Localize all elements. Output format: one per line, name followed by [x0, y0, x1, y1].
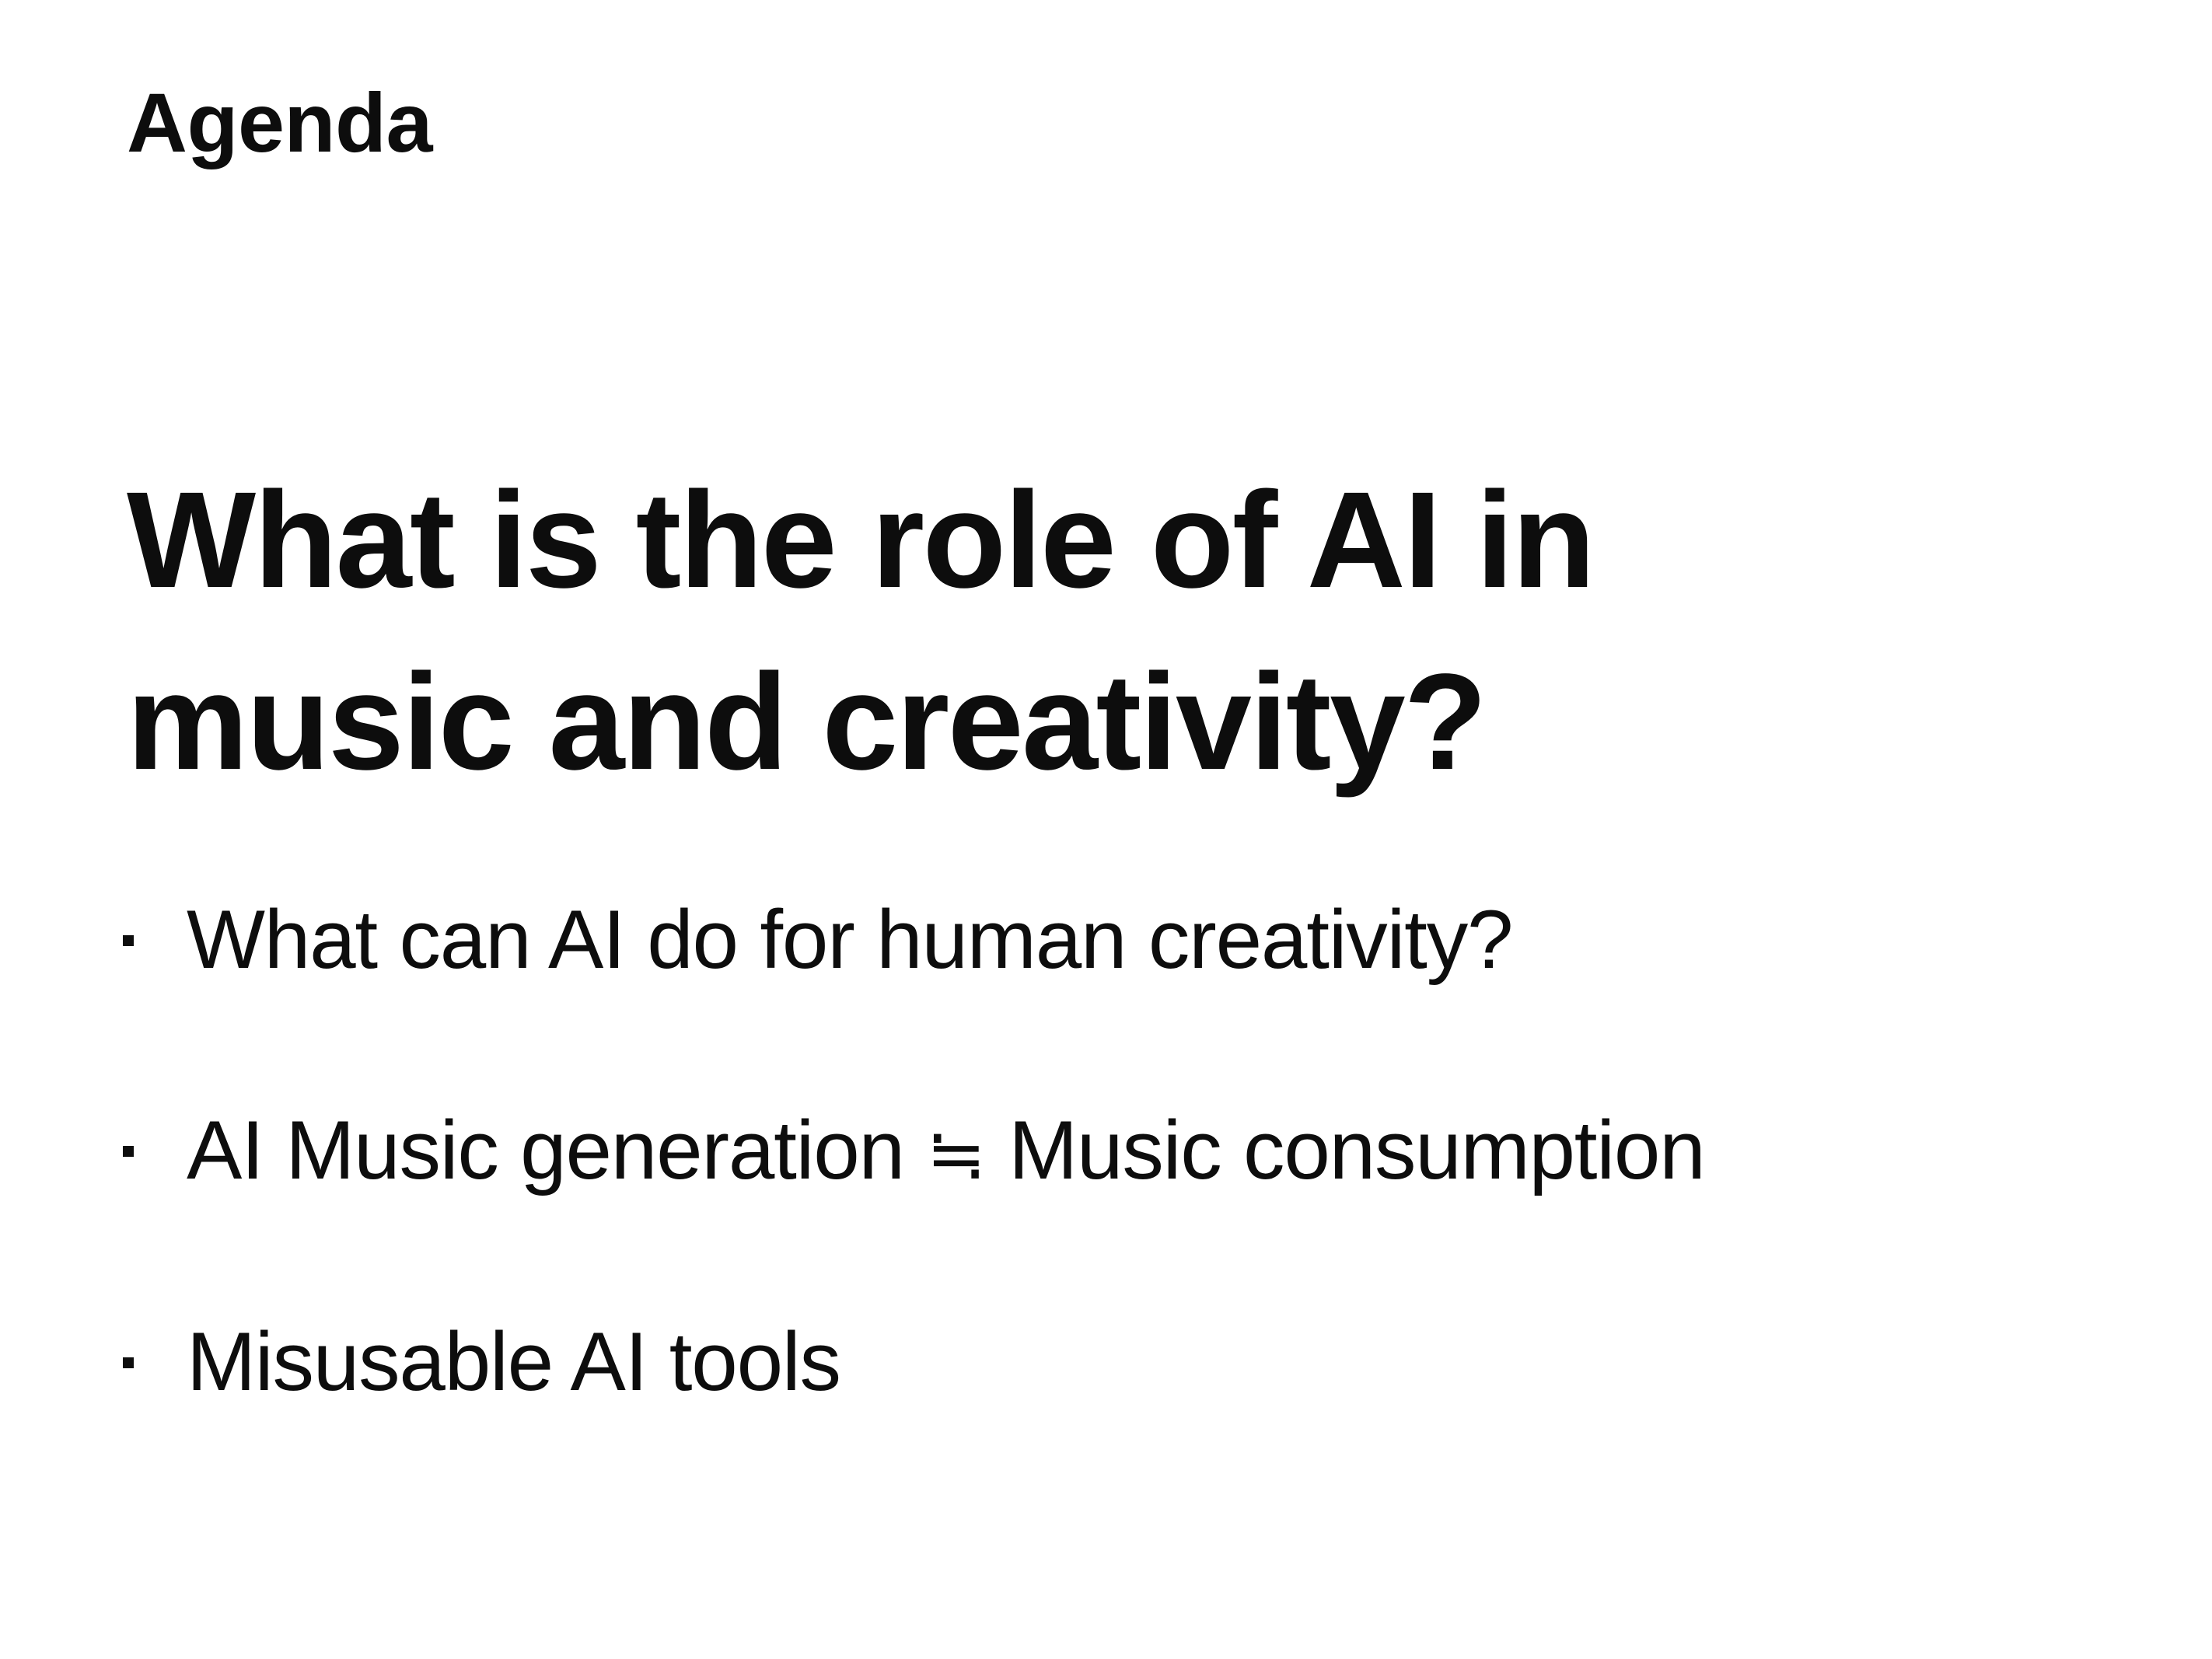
list-item: AI Music generation ≒ Music consumption [123, 1101, 2067, 1199]
slide-title: What is the role of AI in music and crea… [127, 449, 1915, 813]
list-item: Misusable AI tools [123, 1312, 2067, 1410]
bullet-text-1: What can AI do for human creativity? [187, 890, 2067, 988]
square-bullet-icon [123, 935, 134, 946]
approximately-equal-to-symbol: ≒ [926, 1112, 986, 1196]
bullet-2-segment-a: AI Music generation [187, 1103, 926, 1196]
agenda-bullet-list: What can AI do for human creativity? AI … [123, 890, 2067, 1410]
square-bullet-icon [123, 1146, 134, 1157]
bullet-2-segment-b: Music consumption [987, 1103, 1705, 1196]
slide-title-line-1: What is the role of AI in [127, 449, 1915, 631]
list-item: What can AI do for human creativity? [123, 890, 2067, 988]
slide-kicker: Agenda [127, 81, 432, 165]
presentation-slide: Agenda What is the role of AI in music a… [0, 0, 2212, 1659]
slide-title-line-2: music and creativity? [127, 631, 1915, 813]
bullet-text-2: AI Music generation ≒ Music consumption [187, 1101, 2067, 1199]
bullet-text-3: Misusable AI tools [187, 1312, 2067, 1410]
square-bullet-icon [123, 1357, 134, 1368]
